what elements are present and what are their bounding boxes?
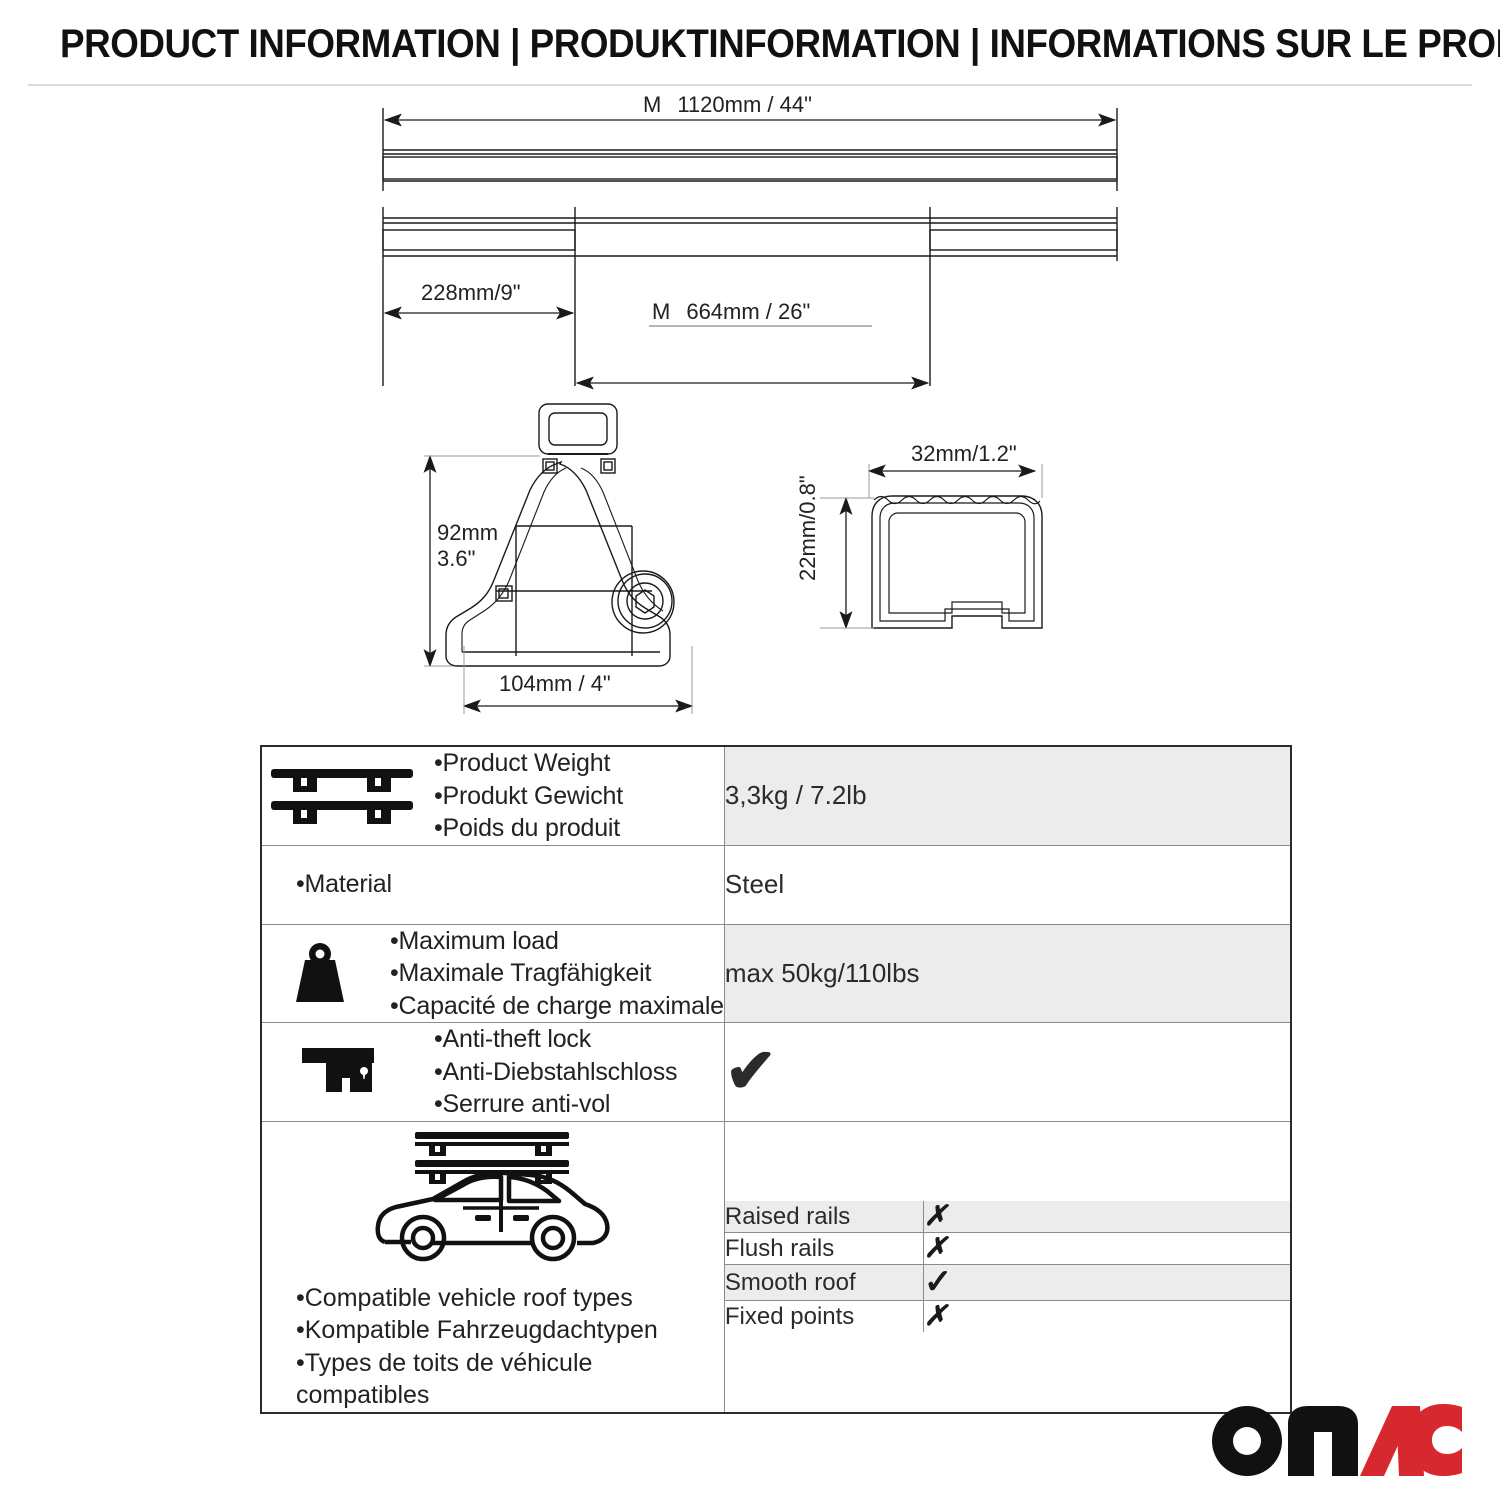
spec-label-en: •Maximum load: [390, 925, 724, 958]
spec-label-de: •Produkt Gewicht: [434, 780, 623, 813]
crossbars-icon: [262, 765, 422, 827]
spec-label-en: •Product Weight: [434, 747, 623, 780]
weight-icon: [262, 940, 378, 1006]
spec-value-product-weight: 3,3kg / 7.2lb: [724, 746, 1291, 845]
table-row: •Maximum load •Maximale Tragfähigkeit •C…: [261, 924, 1291, 1023]
spec-label-fr: •Types de toits de véhicule compatibles: [296, 1347, 724, 1412]
spec-label-cell-maximum-load: •Maximum load •Maximale Tragfähigkeit •C…: [261, 924, 724, 1023]
lock-foot-icon: [262, 1040, 422, 1104]
compatibility-subtable: Raised rails ✗ Flush rails ✗: [725, 1201, 1290, 1332]
spec-value-anti-theft-lock: ✔: [724, 1023, 1291, 1122]
compatibility-name: Flush rails: [725, 1233, 924, 1265]
spec-labels-anti-theft-lock: •Anti-theft lock •Anti-Diebstahlschloss …: [434, 1023, 677, 1121]
compatibility-mark: ✗: [923, 1201, 1290, 1233]
spec-label-cell-material: •Material: [261, 845, 724, 924]
omac-logo-svg: [1210, 1400, 1462, 1478]
spec-label-fr: •Capacité de charge maximale: [390, 990, 724, 1023]
table-row: •Compatible vehicle roof types •Kompatib…: [261, 1121, 1291, 1413]
crossbars-icon-svg: [267, 765, 417, 827]
spec-label-fr: •Serrure anti-vol: [434, 1088, 677, 1121]
check-icon: ✓: [924, 1263, 953, 1301]
compatibility-name: Smooth roof: [725, 1265, 924, 1301]
compatibility-mark: ✗: [923, 1233, 1290, 1265]
spec-labels-material: •Material: [262, 868, 392, 901]
compatibility-mark: ✗: [923, 1301, 1290, 1333]
spec-label-cell-anti-theft-lock: •Anti-theft lock •Anti-Diebstahlschloss …: [261, 1023, 724, 1122]
spec-label-de: •Maximale Tragfähigkeit: [390, 957, 724, 990]
car-with-rack-icon: [262, 1122, 724, 1272]
table-row: •Anti-theft lock •Anti-Diebstahlschloss …: [261, 1023, 1291, 1122]
table-row: •Material Steel: [261, 845, 1291, 924]
compatibility-row-raised-rails: Raised rails ✗: [725, 1201, 1290, 1233]
roof-compatibility-options: Raised rails ✗ Flush rails ✗: [724, 1121, 1291, 1413]
compatibility-name: Fixed points: [725, 1301, 924, 1333]
spec-labels-roof-compatibility: •Compatible vehicle roof types •Kompatib…: [262, 1282, 724, 1412]
cross-icon: ✗: [924, 1300, 947, 1331]
technical-drawing: M1120mm / 44" 228mm/9" M664mm / 26" 92mm…: [0, 86, 1500, 736]
compatibility-row-fixed-points: Fixed points ✗: [725, 1301, 1290, 1333]
product-information-sheet: PRODUCT INFORMATION | PRODUKTINFORMATION…: [0, 0, 1500, 1500]
page-header: PRODUCT INFORMATION | PRODUKTINFORMATION…: [0, 22, 1500, 67]
spec-label-cell-roof-compatibility: •Compatible vehicle roof types •Kompatib…: [261, 1121, 724, 1413]
cross-icon: ✗: [924, 1232, 947, 1263]
spec-label-de: •Anti-Diebstahlschloss: [434, 1056, 677, 1089]
check-icon: ✔: [725, 1041, 777, 1103]
omac-logo: [1210, 1400, 1462, 1478]
weight-icon-svg: [287, 940, 353, 1006]
compatibility-mark: ✓: [923, 1265, 1290, 1301]
page-title: PRODUCT INFORMATION | PRODUKTINFORMATION…: [60, 22, 1440, 67]
compatibility-row-smooth-roof: Smooth roof ✓: [725, 1265, 1290, 1301]
spec-label-en: •Compatible vehicle roof types: [296, 1282, 724, 1315]
cross-icon: ✗: [924, 1200, 947, 1231]
specification-table: •Product Weight •Produkt Gewicht •Poids …: [260, 745, 1292, 1414]
car-with-rack-icon-svg: [363, 1122, 623, 1272]
spec-value-material: Steel: [724, 845, 1291, 924]
table-row: •Product Weight •Produkt Gewicht •Poids …: [261, 746, 1291, 845]
compatibility-name: Raised rails: [725, 1201, 924, 1233]
spec-label-en: •Material: [296, 868, 392, 901]
spec-label-en: •Anti-theft lock: [434, 1023, 677, 1056]
spec-value-maximum-load: max 50kg/110lbs: [724, 924, 1291, 1023]
drawing-vectors: [0, 86, 1500, 736]
spec-label-de: •Kompatible Fahrzeugdachtypen: [296, 1314, 724, 1347]
lock-foot-icon-svg: [298, 1040, 386, 1104]
compatibility-row-flush-rails: Flush rails ✗: [725, 1233, 1290, 1265]
spec-labels-product-weight: •Product Weight •Produkt Gewicht •Poids …: [434, 747, 623, 845]
spec-label-fr: •Poids du produit: [434, 812, 623, 845]
spec-labels-maximum-load: •Maximum load •Maximale Tragfähigkeit •C…: [390, 925, 724, 1023]
spec-label-cell-product-weight: •Product Weight •Produkt Gewicht •Poids …: [261, 746, 724, 845]
